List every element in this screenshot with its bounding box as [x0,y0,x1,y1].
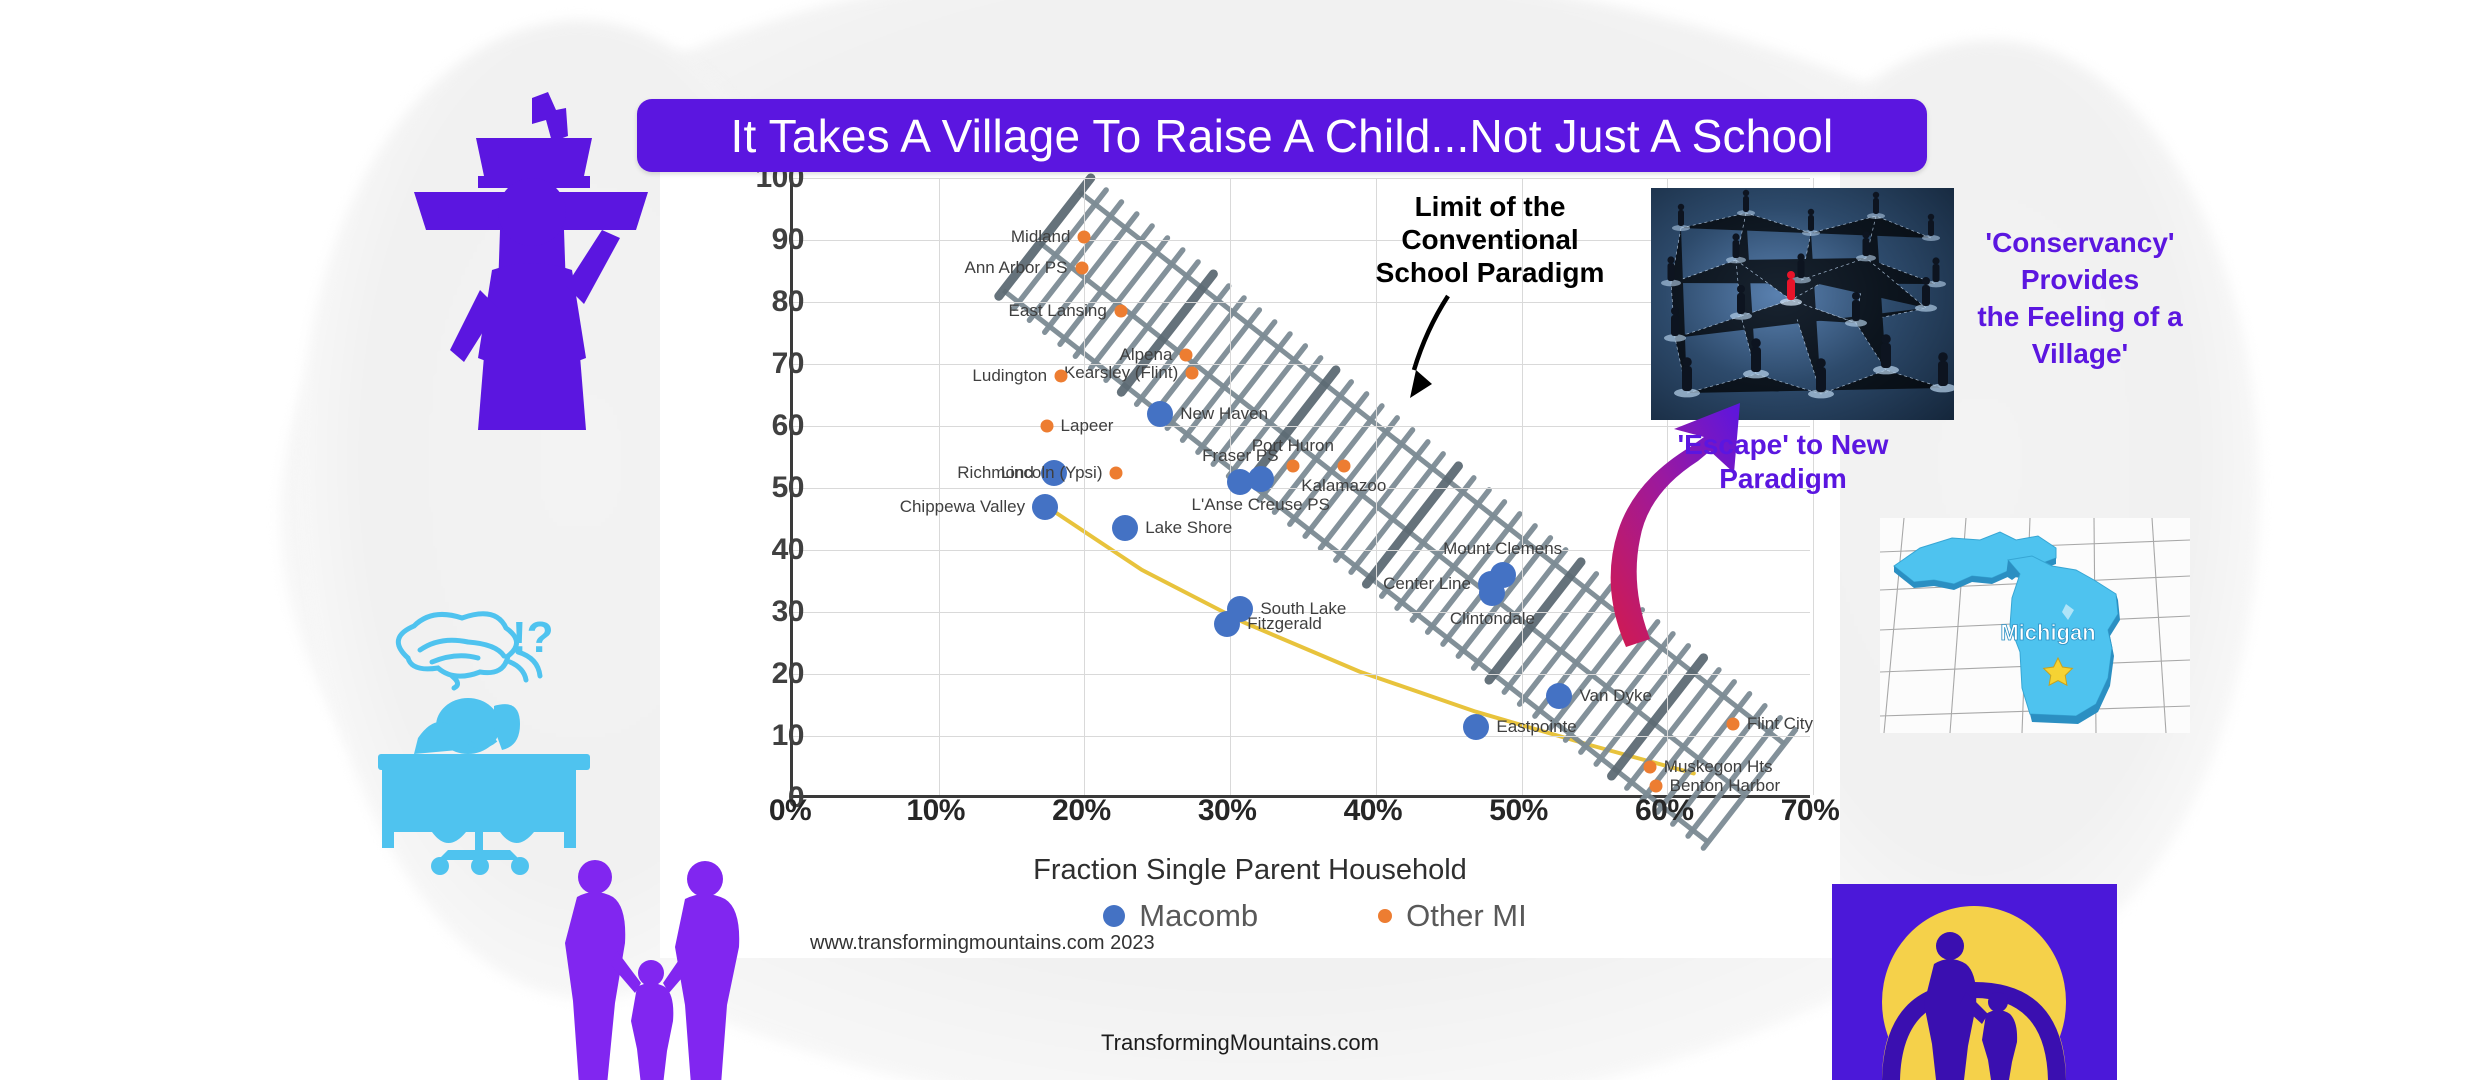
title-banner: It Takes A Village To Raise A Child...No… [637,99,1927,172]
data-point-label: Kalamazoo [1301,476,1386,496]
data-point-label: Benton Harbor [1670,776,1781,796]
x-axis-tick-label: 0% [725,794,855,828]
legend-label-macomb: Macomb [1139,898,1258,934]
social-network-image [1651,188,1954,420]
y-axis-tick-label: 50 [700,471,820,505]
data-point-label: Alpena [1119,345,1172,365]
gridline-horizontal [793,674,1810,675]
x-axis-tick-label: 60% [1599,794,1729,828]
data-point-label: Ludington [972,366,1047,386]
y-axis-tick-label: 70 [700,347,820,381]
data-point[interactable] [1032,494,1058,520]
x-axis-tick-label: 20% [1016,794,1146,828]
data-point-label: Fitzgerald [1247,614,1322,634]
data-point-label: Clintondale [1450,609,1535,629]
data-point[interactable] [1546,683,1572,709]
y-axis-tick-label: 10 [700,719,820,753]
x-axis-tick-label: 10% [871,794,1001,828]
y-axis-tick-label: 60 [700,409,820,443]
graduate-silhouette-icon [380,90,680,430]
annotation-limit-line1: Limit of the [1340,190,1640,223]
data-point[interactable] [1186,367,1199,380]
annotation-escape-line1: 'Escape' to New [1648,428,1918,462]
legend-swatch-other-mi [1378,909,1392,923]
annotation-limit-line3: School Paradigm [1340,256,1640,289]
data-point-label: Van Dyke [1579,686,1651,706]
annotation-escape-to-new-paradigm: 'Escape' to New Paradigm [1648,428,1918,495]
data-point-label: Muskegon Hts [1664,757,1773,777]
footer-text: TransformingMountains.com [0,1030,2480,1056]
data-point[interactable] [1040,420,1053,433]
data-point[interactable] [1479,580,1505,606]
data-point[interactable] [1075,261,1088,274]
chart-legend: Macomb Other MI [790,898,1840,934]
gridline-horizontal [793,178,1810,179]
annotation-conservancy-line2: Provides [1930,262,2230,299]
data-point[interactable] [1643,761,1656,774]
y-axis-tick-label: 90 [700,223,820,257]
data-point[interactable] [1147,401,1173,427]
data-point-label: Flint City [1747,714,1813,734]
x-axis-title: Fraction Single Parent Household [660,854,1840,887]
michigan-map-label: Michigan [2000,620,2095,645]
data-point[interactable] [1180,348,1193,361]
data-point[interactable] [1055,370,1068,383]
y-axis-tick-label: 80 [700,285,820,319]
data-point[interactable] [1112,515,1138,541]
data-point[interactable] [1214,611,1240,637]
x-axis-tick-label: 70% [1745,794,1875,828]
gridline-horizontal [793,736,1810,737]
slide-canvas: !? [0,0,2480,1080]
limit-annotation-arrow-icon [1330,290,1530,410]
annotation-conservancy-line3: the Feeling of a [1930,299,2230,336]
data-point-label: Lake Shore [1145,518,1232,538]
data-point[interactable] [1726,717,1739,730]
gridline-vertical [939,178,940,795]
data-point[interactable] [1337,460,1350,473]
legend-item-other-mi[interactable]: Other MI [1378,898,1527,934]
annotation-conservancy-line4: Village' [1930,336,2230,373]
data-point[interactable] [1649,779,1662,792]
annotation-escape-line2: Paradigm [1648,462,1918,496]
data-point-label: L'Anse Creuse PS [1192,495,1330,515]
data-point[interactable] [1286,460,1299,473]
stressed-student-at-desk-icon: !? [360,610,610,880]
data-point-label: Lincoln (Ypsi) [1001,463,1103,483]
data-point[interactable] [1114,305,1127,318]
data-point[interactable] [1110,466,1123,479]
data-point-label: Eastpointe [1496,717,1576,737]
data-point-label: Center Line [1383,574,1471,594]
x-axis-tick-label: 30% [1162,794,1292,828]
legend-label-other-mi: Other MI [1406,898,1527,934]
data-point-label: Port Huron [1252,436,1334,456]
michigan-map-image: Michigan [1880,518,2190,733]
data-point-label: Kearsley (Flint) [1064,363,1178,383]
y-axis-tick-label: 20 [700,657,820,691]
annotation-limit-of-paradigm: Limit of the Conventional School Paradig… [1340,190,1640,289]
data-point-label: New Haven [1180,404,1268,424]
data-point-label: Ann Arbor PS [964,258,1067,278]
legend-swatch-macomb [1103,905,1125,927]
x-axis-tick-label: 40% [1308,794,1438,828]
data-point-label: Midland [1011,227,1071,247]
annotation-conservancy-line1: 'Conservancy' [1930,225,2230,262]
annotation-limit-line2: Conventional [1340,223,1640,256]
y-axis-tick-label: 30 [700,595,820,629]
x-axis-tick-label: 50% [1454,794,1584,828]
svg-text:!?: !? [512,613,554,662]
annotation-conservancy: 'Conservancy' Provides the Feeling of a … [1930,225,2230,373]
data-point[interactable] [1463,714,1489,740]
y-axis-tick-label: 40 [700,533,820,567]
data-point[interactable] [1248,466,1274,492]
data-point[interactable] [1078,230,1091,243]
page-title: It Takes A Village To Raise A Child...No… [731,109,1834,163]
data-point-label: Lapeer [1061,416,1114,436]
data-point-label: Chippewa Valley [900,497,1025,517]
legend-item-macomb[interactable]: Macomb [1103,898,1258,934]
data-point-label: East Lansing [1009,301,1107,321]
chart-source-note: www.transformingmountains.com 2023 [810,932,1155,955]
